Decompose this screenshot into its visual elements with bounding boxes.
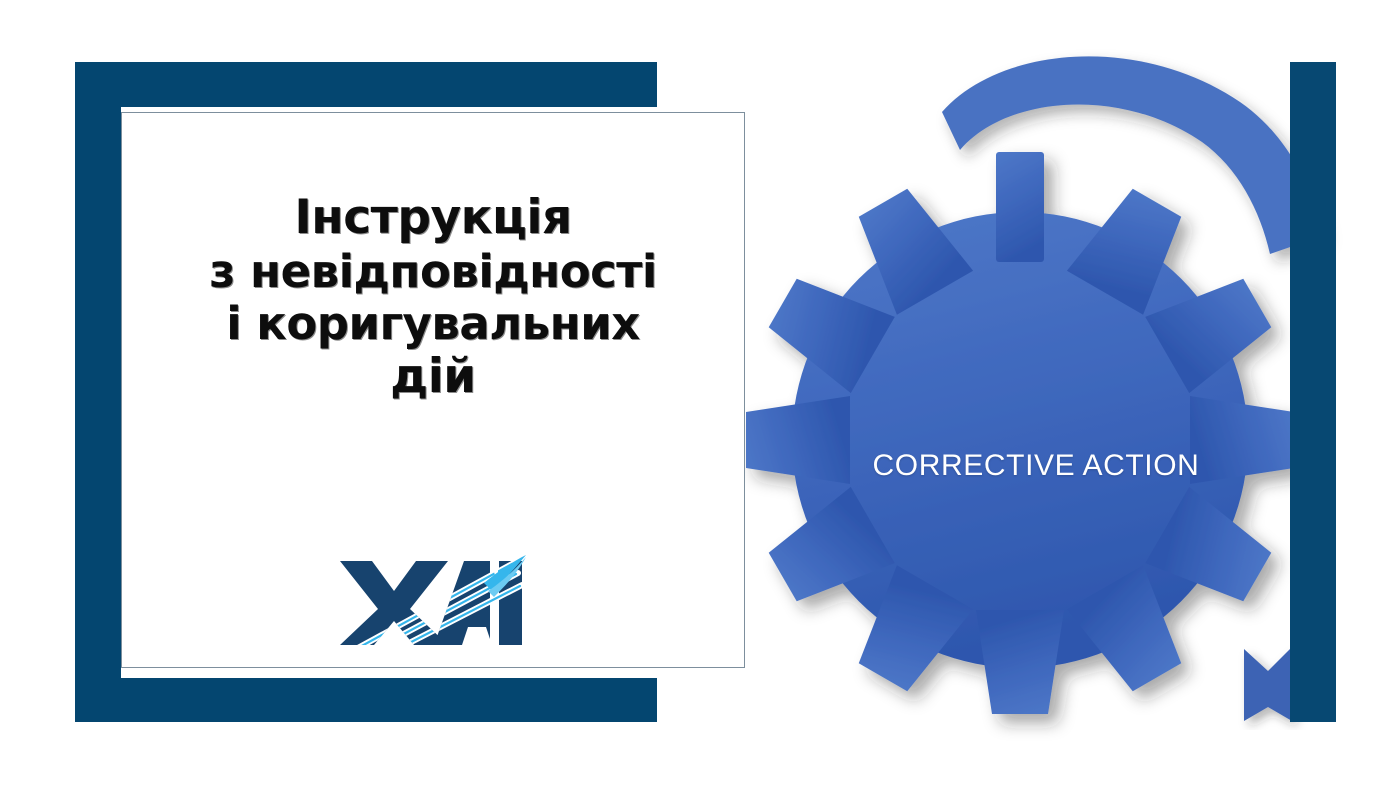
khai-logo (338, 545, 528, 649)
page-title: Інструкція з невідповідності і коригувал… (122, 191, 744, 404)
right-accent-bar (1290, 62, 1336, 722)
title-line-1: Інструкція (122, 191, 744, 246)
frame-top-bar (75, 62, 657, 107)
frame-bottom-bar (75, 678, 657, 722)
title-line-2: з невідповідності (122, 246, 744, 298)
title-card-inner: Інструкція з невідповідності і коригувал… (122, 113, 744, 667)
title-card: Інструкція з невідповідності і коригувал… (121, 112, 745, 668)
title-line-4: дій (122, 350, 744, 405)
slide-canvas: CORRECTIVE ACTION (0, 0, 1400, 788)
title-line-3: і коригувальних (122, 298, 744, 350)
frame-left-bar (75, 62, 121, 722)
